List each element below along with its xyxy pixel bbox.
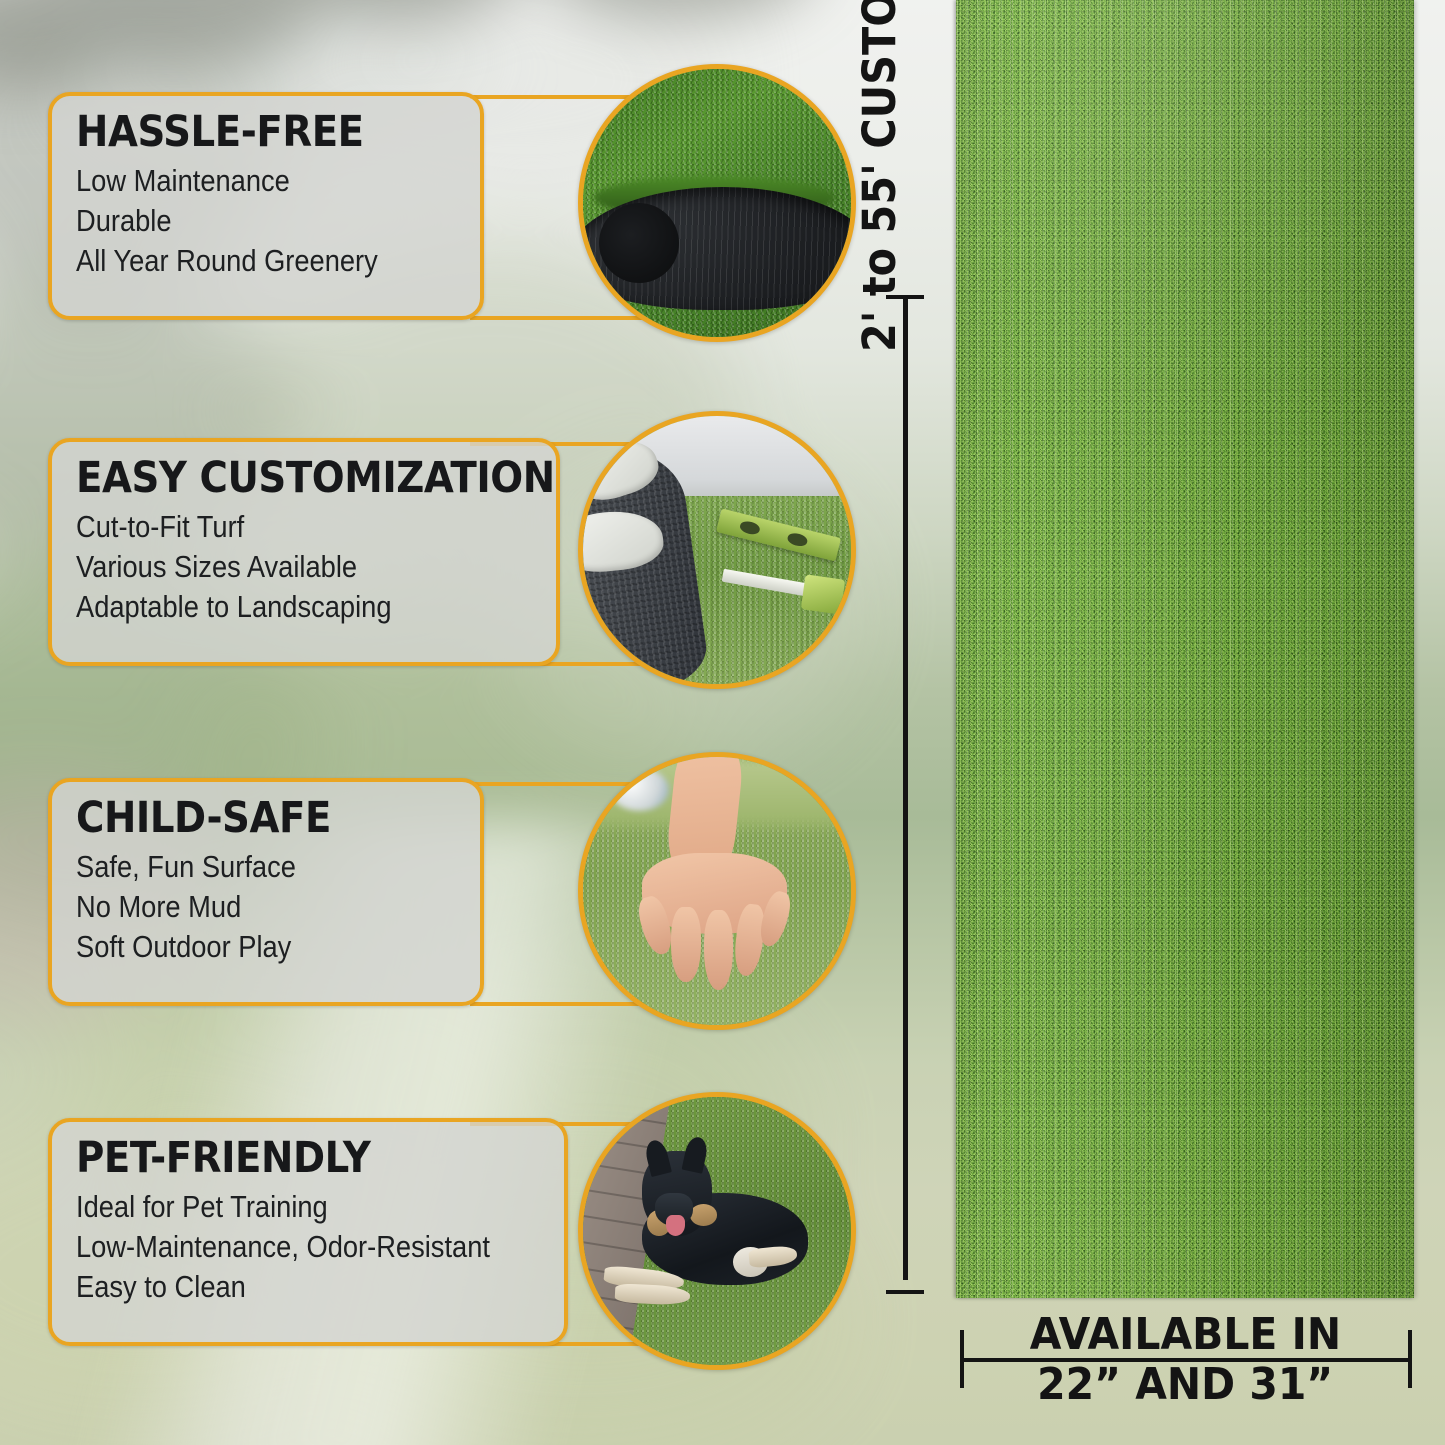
photo-content: [583, 1097, 851, 1365]
feature-card-easy-customization: EASY CUSTOMIZATION Cut-to-Fit Turf Vario…: [48, 438, 560, 666]
available-in-text: AVAILABLE IN: [1029, 1311, 1340, 1359]
feature-card-hassle-free: HASSLE-FREE Low Maintenance Durable All …: [48, 92, 484, 320]
feature-bullets-child-safe: Safe, Fun Surface No More Mud Soft Outdo…: [76, 847, 458, 968]
list-item: Various Sizes Available: [76, 547, 479, 587]
list-item: Low Maintenance: [76, 161, 412, 201]
vertical-dimension-text: 2' to 55' CUSTOMIZABLE: [852, 0, 908, 352]
turf-roll-backing-photo: [578, 64, 856, 342]
photo-content: [583, 757, 851, 1025]
list-item: No More Mud: [76, 887, 412, 927]
turf-shading-overlay: [956, 0, 1414, 1298]
horizontal-dimension-label-line1: AVAILABLE IN: [956, 1311, 1414, 1359]
gloved-hands-installing-turf-photo: [578, 411, 856, 689]
list-item: Cut-to-Fit Turf: [76, 507, 479, 547]
feature-card-child-safe: CHILD-SAFE Safe, Fun Surface No More Mud…: [48, 778, 484, 1006]
feature-bullets-easy-customization: Cut-to-Fit Turf Various Sizes Available …: [76, 507, 534, 628]
list-item: Adaptable to Landscaping: [76, 587, 479, 627]
list-item: Durable: [76, 201, 412, 241]
feature-bullets-hassle-free: Low Maintenance Durable All Year Round G…: [76, 161, 458, 282]
list-item: Ideal for Pet Training: [76, 1187, 486, 1227]
horizontal-dimension-label-line2: 22” AND 31”: [956, 1360, 1414, 1410]
list-item: Low-Maintenance, Odor-Resistant: [76, 1227, 486, 1267]
feature-card-pet-friendly: PET-FRIENDLY Ideal for Pet Training Low-…: [48, 1118, 568, 1346]
turf-product-panel: [956, 0, 1414, 1298]
vertical-dimension-line: [903, 297, 908, 1280]
photo-content: [583, 416, 851, 684]
photo-content: [583, 69, 851, 337]
dog-tan-marking: [690, 1204, 717, 1225]
child-finger: [671, 907, 700, 982]
feature-title-child-safe: CHILD-SAFE: [76, 796, 420, 842]
child-hand-on-turf-photo: [578, 752, 856, 1030]
list-item: Soft Outdoor Play: [76, 927, 412, 967]
feature-title-hassle-free: HASSLE-FREE: [76, 110, 420, 156]
width-options-text: 22” AND 31”: [1037, 1360, 1333, 1410]
list-item: Easy to Clean: [76, 1267, 486, 1307]
list-item: All Year Round Greenery: [76, 241, 412, 281]
tape-measure-housing: [801, 574, 846, 614]
feature-title-easy-customization: EASY CUSTOMIZATION: [76, 456, 488, 502]
vertical-dimension-label: 2' to 55' CUSTOMIZABLE: [852, 0, 908, 352]
feature-title-pet-friendly: PET-FRIENDLY: [76, 1136, 495, 1182]
feature-bullets-pet-friendly: Ideal for Pet Training Low-Maintenance, …: [76, 1187, 542, 1308]
list-item: Safe, Fun Surface: [76, 847, 412, 887]
child-finger: [704, 910, 733, 990]
blurred-ball: [610, 768, 669, 811]
dog-lying-on-turf-photo: [578, 1092, 856, 1370]
vertical-dimension-cap-bottom: [886, 1290, 924, 1294]
